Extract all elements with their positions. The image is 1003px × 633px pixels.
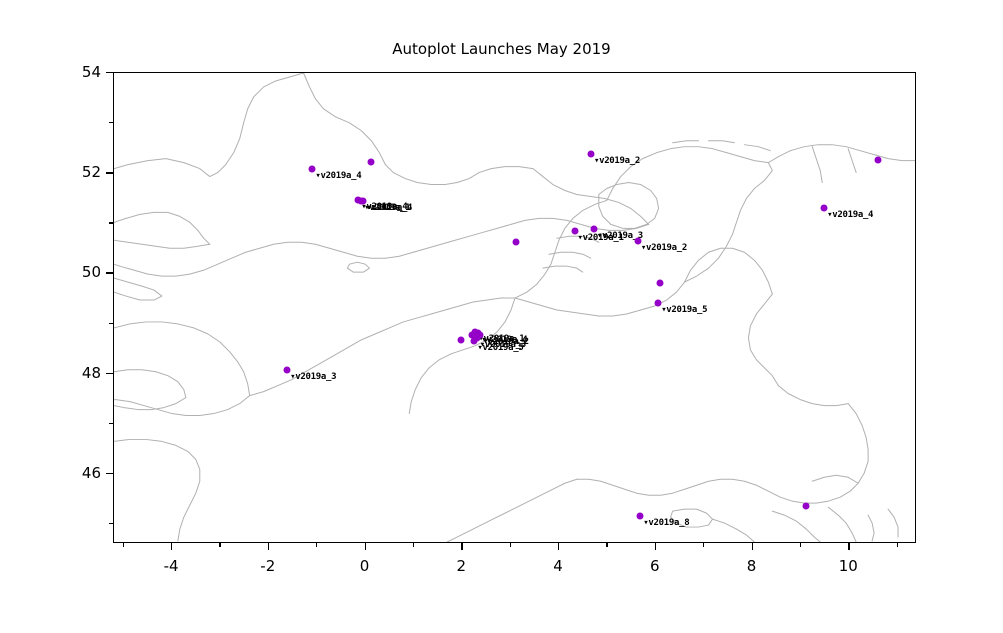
data-point	[875, 156, 882, 163]
x-axis-tick	[848, 543, 849, 550]
y-axis-tick-label: 52	[65, 163, 101, 181]
y-axis-minor-tick	[109, 323, 113, 324]
x-axis-minor-tick	[897, 543, 898, 547]
data-point	[802, 503, 809, 510]
x-axis-tick-label: 6	[650, 557, 660, 575]
x-axis-tick	[171, 543, 172, 550]
x-axis-tick-label: 8	[747, 557, 757, 575]
data-point	[368, 159, 375, 166]
y-axis-tick	[106, 72, 113, 73]
x-axis-minor-tick	[219, 543, 220, 547]
x-axis-tick	[461, 543, 462, 550]
data-point	[656, 280, 663, 287]
data-point	[458, 336, 465, 343]
x-axis-tick-label: -4	[164, 557, 179, 575]
data-point-label: ▾v2019a_5	[661, 305, 707, 315]
chart-title: Autoplot Launches May 2019	[0, 40, 1003, 58]
x-axis-minor-tick	[703, 543, 704, 547]
data-point-label: ▾v2019a_8	[643, 518, 689, 528]
y-axis-tick	[106, 473, 113, 474]
y-axis-tick-label: 50	[65, 263, 101, 281]
x-axis-tick-label: -2	[260, 557, 275, 575]
x-axis-tick	[558, 543, 559, 550]
x-axis-tick-label: 2	[457, 557, 467, 575]
y-axis-tick-label: 54	[65, 63, 101, 81]
x-axis-tick	[752, 543, 753, 550]
x-axis-minor-tick	[800, 543, 801, 547]
y-axis-minor-tick	[109, 523, 113, 524]
x-axis-minor-tick	[606, 543, 607, 547]
x-axis-minor-tick	[316, 543, 317, 547]
data-point-label: ▾v2019a_3	[290, 372, 336, 382]
x-axis-tick-label: 10	[839, 557, 858, 575]
y-axis-minor-tick	[109, 423, 113, 424]
y-axis-tick	[106, 272, 113, 273]
x-axis-tick-label: 0	[360, 557, 370, 575]
y-axis-tick-label: 48	[65, 364, 101, 382]
x-axis-tick	[268, 543, 269, 550]
chart-canvas: Autoplot Launches May 2019	[0, 0, 1003, 633]
x-axis-tick	[365, 543, 366, 550]
x-axis-minor-tick	[510, 543, 511, 547]
y-axis-tick-label: 46	[65, 464, 101, 482]
data-points-layer: ▾v2019a_4▾v2019a_4▾v2019a_1▾v2019a_4▾v20…	[114, 73, 915, 542]
data-point-label: ▾v2019a_2	[594, 156, 640, 166]
y-axis-tick	[106, 172, 113, 173]
data-point-label: ▾v2019a_2	[641, 243, 687, 253]
y-axis-minor-tick	[109, 222, 113, 223]
x-axis-minor-tick	[413, 543, 414, 547]
x-axis-minor-tick	[123, 543, 124, 547]
x-axis-tick	[655, 543, 656, 550]
data-point-label: ▾v2019a_5	[477, 343, 523, 353]
plot-area: ▾v2019a_4▾v2019a_4▾v2019a_1▾v2019a_4▾v20…	[113, 72, 916, 543]
data-point-label: ▾v2019a_4	[315, 171, 361, 181]
y-axis-minor-tick	[109, 122, 113, 123]
data-point	[512, 239, 519, 246]
data-point-label: ▾v2019a_4	[366, 203, 412, 213]
x-axis-tick-label: 4	[553, 557, 563, 575]
data-point-label: ▾v2019a_4	[827, 210, 873, 220]
y-axis-tick	[106, 373, 113, 374]
